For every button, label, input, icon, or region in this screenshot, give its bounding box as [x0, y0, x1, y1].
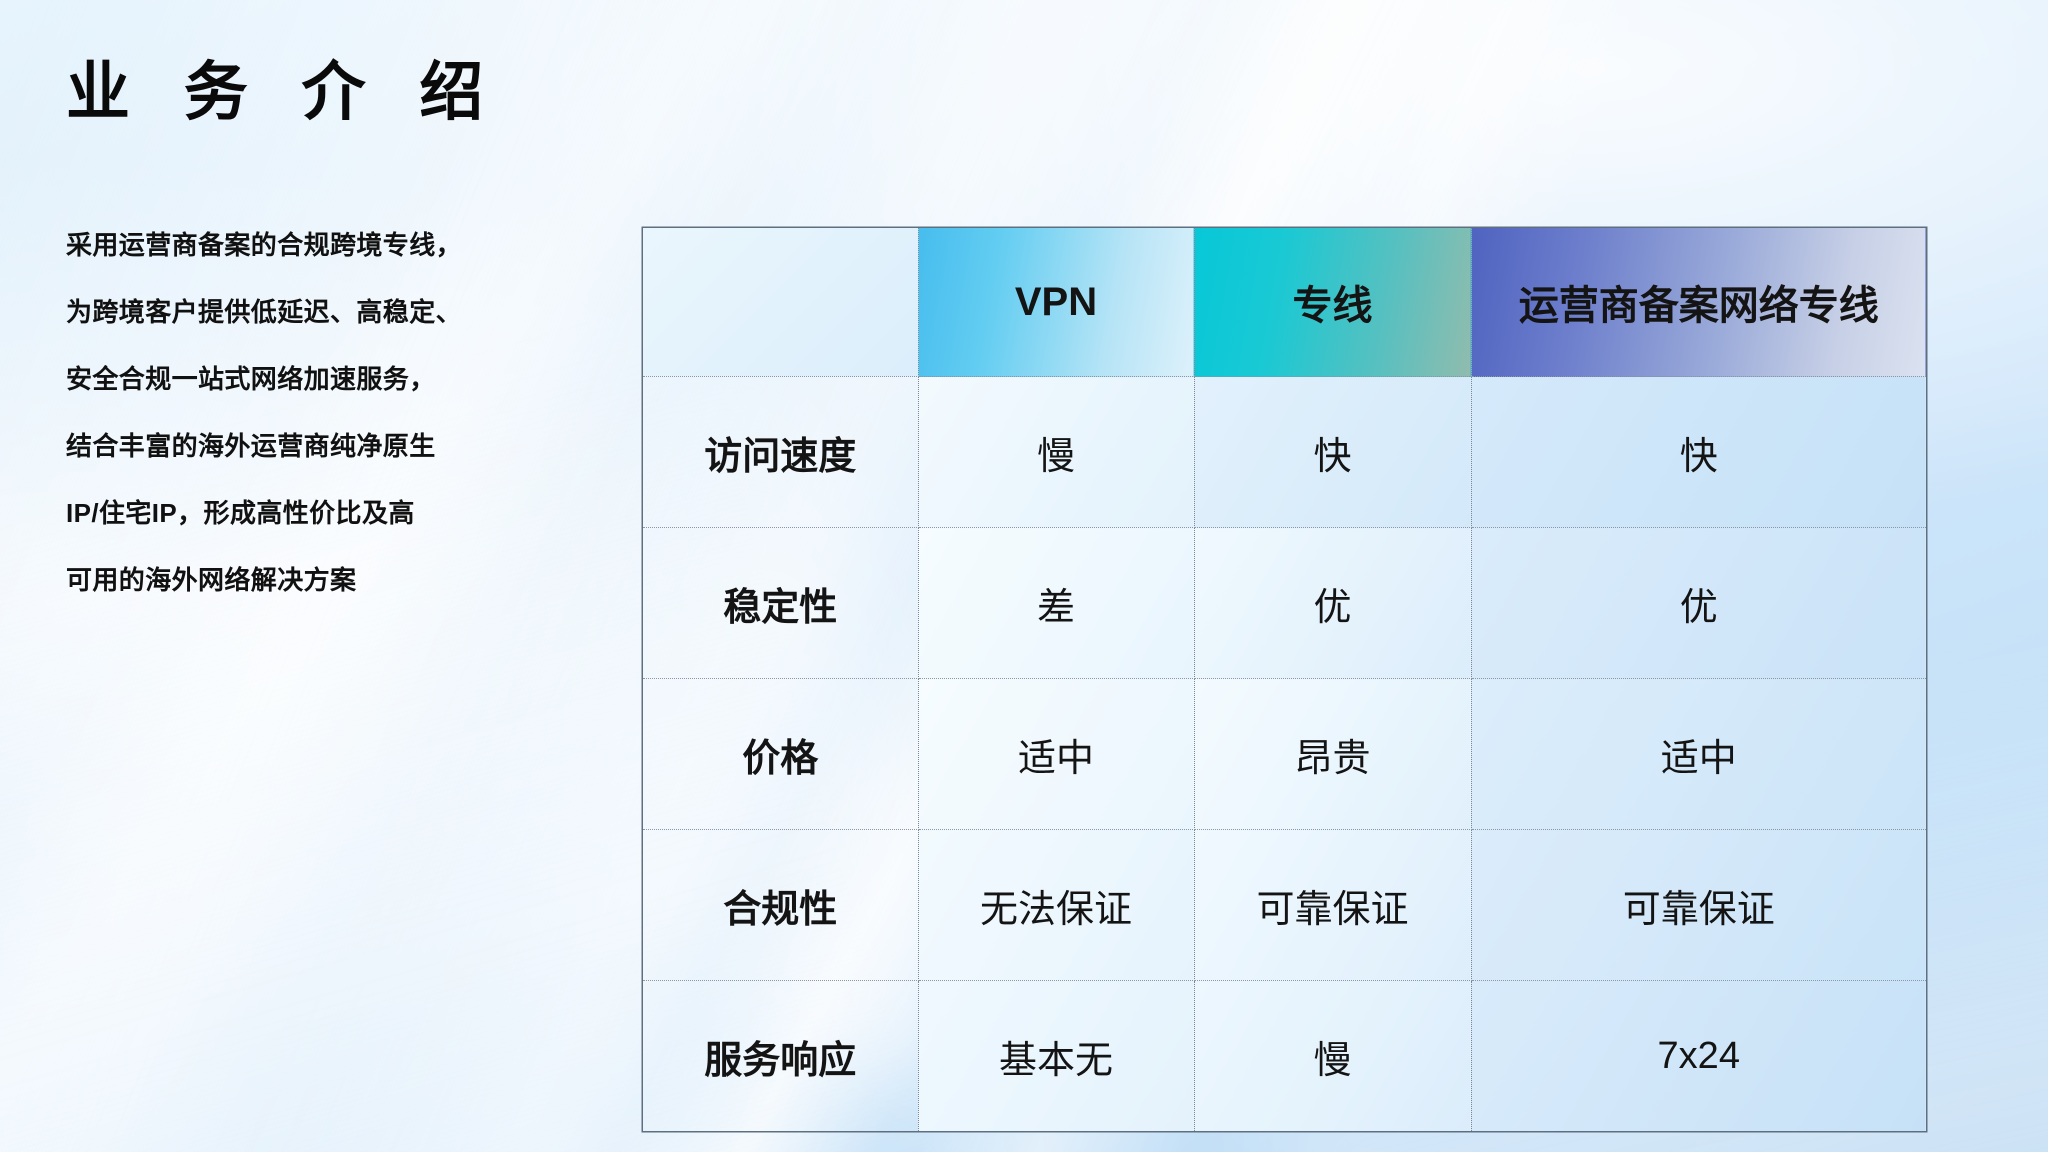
- intro-line: 可用的海外网络解决方案: [66, 567, 626, 593]
- table-row: 访问速度 慢 快 快: [643, 377, 1926, 528]
- cell-value: 适中: [1471, 679, 1926, 830]
- table-header-cell-blank: [643, 228, 918, 377]
- table-header-cell-vpn: VPN: [918, 228, 1194, 377]
- row-label: 访问速度: [643, 377, 918, 528]
- table-header-row: VPN 专线 运营商备案网络专线: [643, 228, 1926, 377]
- table-header: VPN 专线 运营商备案网络专线: [643, 228, 1926, 377]
- table-header-cell-dedicated-line: 专线: [1194, 228, 1471, 377]
- table-header-cell-carrier-line: 运营商备案网络专线: [1471, 228, 1926, 377]
- cell-value: 优: [1194, 528, 1471, 679]
- cell-value: 昂贵: [1194, 679, 1471, 830]
- slide-canvas: 业 务 介 绍 采用运营商备案的合规跨境专线， 为跨境客户提供低延迟、高稳定、 …: [0, 0, 2048, 1152]
- cell-value: 快: [1194, 377, 1471, 528]
- row-label: 稳定性: [643, 528, 918, 679]
- row-label: 服务响应: [643, 981, 918, 1132]
- cell-value: 适中: [918, 679, 1194, 830]
- cell-value: 可靠保证: [1194, 830, 1471, 981]
- cell-value: 差: [918, 528, 1194, 679]
- cell-value: 慢: [1194, 981, 1471, 1132]
- table-row: 服务响应 基本无 慢 7x24: [643, 981, 1926, 1132]
- table-body: 访问速度 慢 快 快 稳定性 差 优 优 价格 适中 昂贵 适中 合规性 无法保…: [643, 377, 1926, 1132]
- intro-paragraph: 采用运营商备案的合规跨境专线， 为跨境客户提供低延迟、高稳定、 安全合规一站式网…: [66, 232, 626, 593]
- table-row: 合规性 无法保证 可靠保证 可靠保证: [643, 830, 1926, 981]
- table-row: 稳定性 差 优 优: [643, 528, 1926, 679]
- comparison-table: VPN 专线 运营商备案网络专线 访问速度 慢 快 快 稳定性 差 优 优 价格…: [643, 228, 1926, 1131]
- row-label: 合规性: [643, 830, 918, 981]
- table-row: 价格 适中 昂贵 适中: [643, 679, 1926, 830]
- cell-value: 优: [1471, 528, 1926, 679]
- cell-value: 无法保证: [918, 830, 1194, 981]
- intro-line: IP/住宅IP，形成高性价比及高: [66, 500, 626, 526]
- intro-line: 采用运营商备案的合规跨境专线，: [66, 232, 626, 258]
- intro-line: 结合丰富的海外运营商纯净原生: [66, 433, 626, 459]
- intro-line: 安全合规一站式网络加速服务，: [66, 366, 626, 392]
- cell-value: 慢: [918, 377, 1194, 528]
- row-label: 价格: [643, 679, 918, 830]
- page-title: 业 务 介 绍: [66, 60, 501, 124]
- cell-value: 可靠保证: [1471, 830, 1926, 981]
- cell-value: 基本无: [918, 981, 1194, 1132]
- intro-line: 为跨境客户提供低延迟、高稳定、: [66, 299, 626, 325]
- cell-value: 7x24: [1471, 981, 1926, 1132]
- cell-value: 快: [1471, 377, 1926, 528]
